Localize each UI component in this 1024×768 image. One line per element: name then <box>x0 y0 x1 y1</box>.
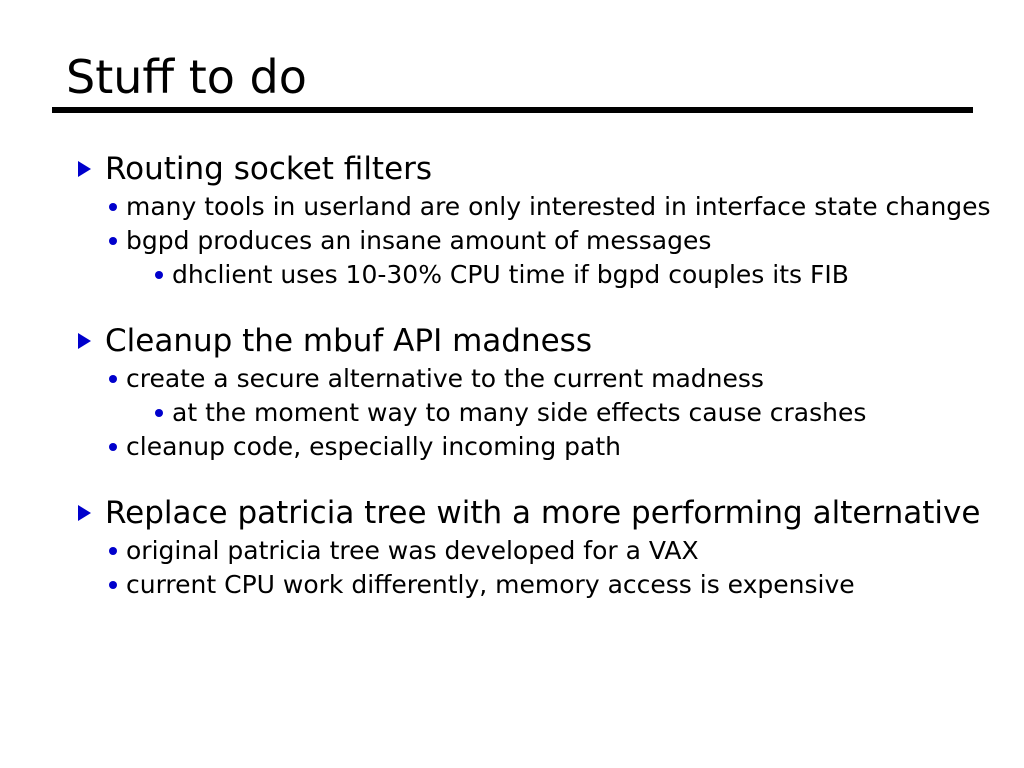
bullet-level2: bgpd produces an insane amount of messag… <box>0 224 1024 258</box>
dot-bullet-icon <box>155 271 163 279</box>
slide: Stuff to do Routing socket filters many … <box>0 0 1024 768</box>
bullet-level1-label: Replace patricia tree with a more perfor… <box>105 492 1024 534</box>
bullet-level1-label: Routing socket filters <box>105 148 1024 190</box>
dot-bullet-icon <box>109 203 117 211</box>
bullet-level2-label: bgpd produces an insane amount of messag… <box>126 224 1024 258</box>
page-title: Stuff to do <box>52 50 972 104</box>
bullet-level2-label: original patricia tree was developed for… <box>126 534 1024 568</box>
bullet-group: Routing socket filters many tools in use… <box>0 148 1024 292</box>
bullet-level1: Cleanup the mbuf API madness <box>0 320 1024 362</box>
dot-bullet-icon <box>155 409 163 417</box>
bullet-level1-label: Cleanup the mbuf API madness <box>105 320 1024 362</box>
bullet-level3-label: dhclient uses 10-30% CPU time if bgpd co… <box>172 258 1024 292</box>
bullet-level3: at the moment way to many side effects c… <box>0 396 1024 430</box>
dot-bullet-icon <box>109 375 117 383</box>
bullet-level2: cleanup code, especially incoming path <box>0 430 1024 464</box>
bullet-level2-label: many tools in userland are only interest… <box>126 190 1024 224</box>
bullet-level3: dhclient uses 10-30% CPU time if bgpd co… <box>0 258 1024 292</box>
bullet-level1: Replace patricia tree with a more perfor… <box>0 492 1024 534</box>
triangle-bullet-icon <box>78 505 91 521</box>
bullet-level2-label: create a secure alternative to the curre… <box>126 362 1024 396</box>
bullet-group: Replace patricia tree with a more perfor… <box>0 492 1024 602</box>
slide-body: Routing socket filters many tools in use… <box>0 148 1024 602</box>
bullet-level2-label: current CPU work differently, memory acc… <box>126 568 1024 602</box>
title-underline-rule <box>52 107 973 113</box>
dot-bullet-icon <box>109 547 117 555</box>
dot-bullet-icon <box>109 581 117 589</box>
bullet-level2: many tools in userland are only interest… <box>0 190 1024 224</box>
bullet-level3-label: at the moment way to many side effects c… <box>172 396 1024 430</box>
triangle-bullet-icon <box>78 161 91 177</box>
bullet-level1: Routing socket filters <box>0 148 1024 190</box>
triangle-bullet-icon <box>78 333 91 349</box>
dot-bullet-icon <box>109 237 117 245</box>
bullet-group: Cleanup the mbuf API madness create a se… <box>0 320 1024 464</box>
bullet-level2: current CPU work differently, memory acc… <box>0 568 1024 602</box>
dot-bullet-icon <box>109 443 117 451</box>
bullet-level2-label: cleanup code, especially incoming path <box>126 430 1024 464</box>
bullet-level2: create a secure alternative to the curre… <box>0 362 1024 396</box>
title-block: Stuff to do <box>52 50 972 113</box>
bullet-level2: original patricia tree was developed for… <box>0 534 1024 568</box>
